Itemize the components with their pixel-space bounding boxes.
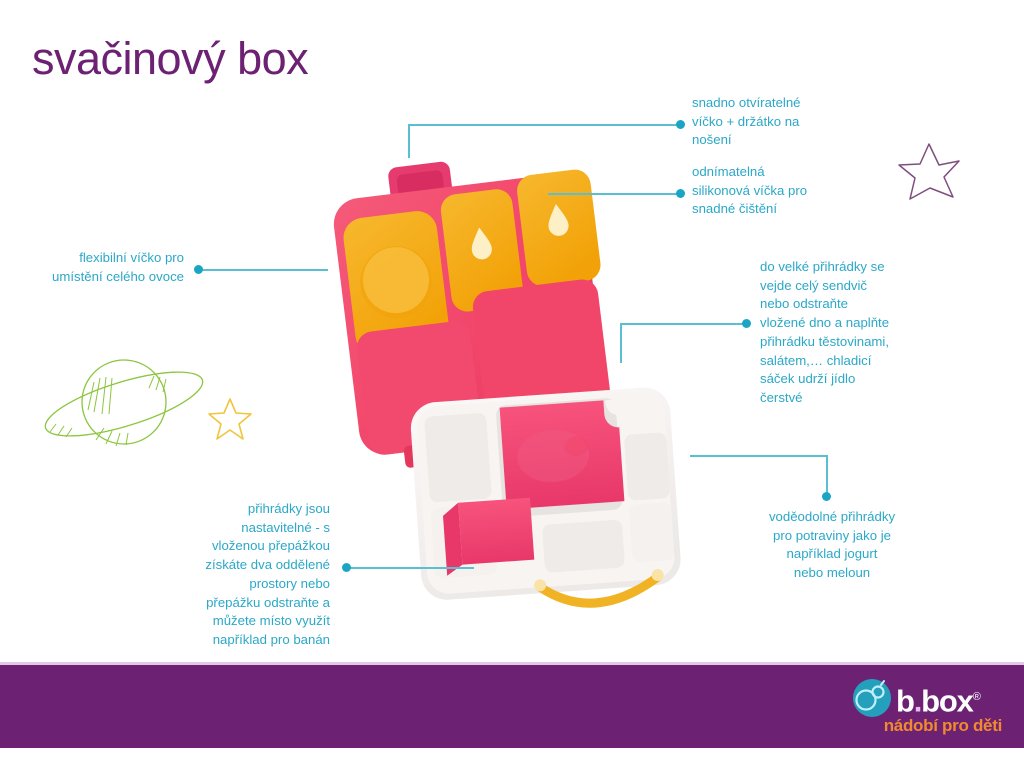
annotation-flexible-lid: flexibilní víčko pro umístění celého ovo… — [32, 249, 184, 286]
page-title: svačinový box — [32, 36, 308, 81]
annotation-waterproof-compartments: voděodolné přihrádky pro potraviny jako … — [742, 508, 922, 583]
logo-word-box: box — [921, 683, 973, 718]
annotation-adjustable-compartments: přihrádky jsou nastavitelné - s vloženou… — [178, 500, 330, 650]
leader-line-waterproof-v — [826, 455, 828, 497]
star-doodle-purple — [896, 140, 962, 206]
bbox-circle-icon — [852, 678, 892, 718]
leader-line-lid-handle-v — [408, 124, 410, 158]
annotation-silicone-lids: odnímatelná silikonová víčka pro snadné … — [692, 163, 852, 219]
bbox-wordmark: b.box® — [896, 678, 980, 720]
leader-line-adjustable — [348, 567, 474, 569]
logo-trademark: ® — [973, 691, 980, 703]
leader-line-silicone-lids — [548, 193, 680, 195]
planet-doodle — [36, 352, 206, 462]
leader-dot-lid-handle — [676, 120, 685, 129]
logo-word-b: b — [896, 683, 914, 718]
leader-line-waterproof-h — [690, 455, 828, 457]
logo-tagline: nádobí pro děti — [854, 716, 1002, 736]
star-doodle-gold — [206, 395, 254, 443]
leader-line-lid-handle-h — [408, 124, 680, 126]
brand-logo[interactable]: b.box® nádobí pro děti — [852, 676, 1002, 738]
infographic-page: svačinový box — [0, 0, 1024, 768]
annotation-big-compartment: do velké přihrádky se vejde celý sendvič… — [760, 258, 922, 408]
leader-dot-silicone-lids — [676, 189, 685, 198]
leader-dot-big-compartment — [742, 319, 751, 328]
annotation-lid-handle: snadno otvíratelné víčko + držátko na no… — [692, 94, 842, 150]
leader-dot-waterproof — [822, 492, 831, 501]
leader-line-big-compartment-v — [620, 323, 622, 363]
leader-line-flexible-lid — [200, 269, 328, 271]
leader-line-big-compartment-h — [620, 323, 748, 325]
leader-dot-flexible-lid — [194, 265, 203, 274]
lunchbox-illustration — [330, 140, 710, 630]
leader-dot-adjustable — [342, 563, 351, 572]
